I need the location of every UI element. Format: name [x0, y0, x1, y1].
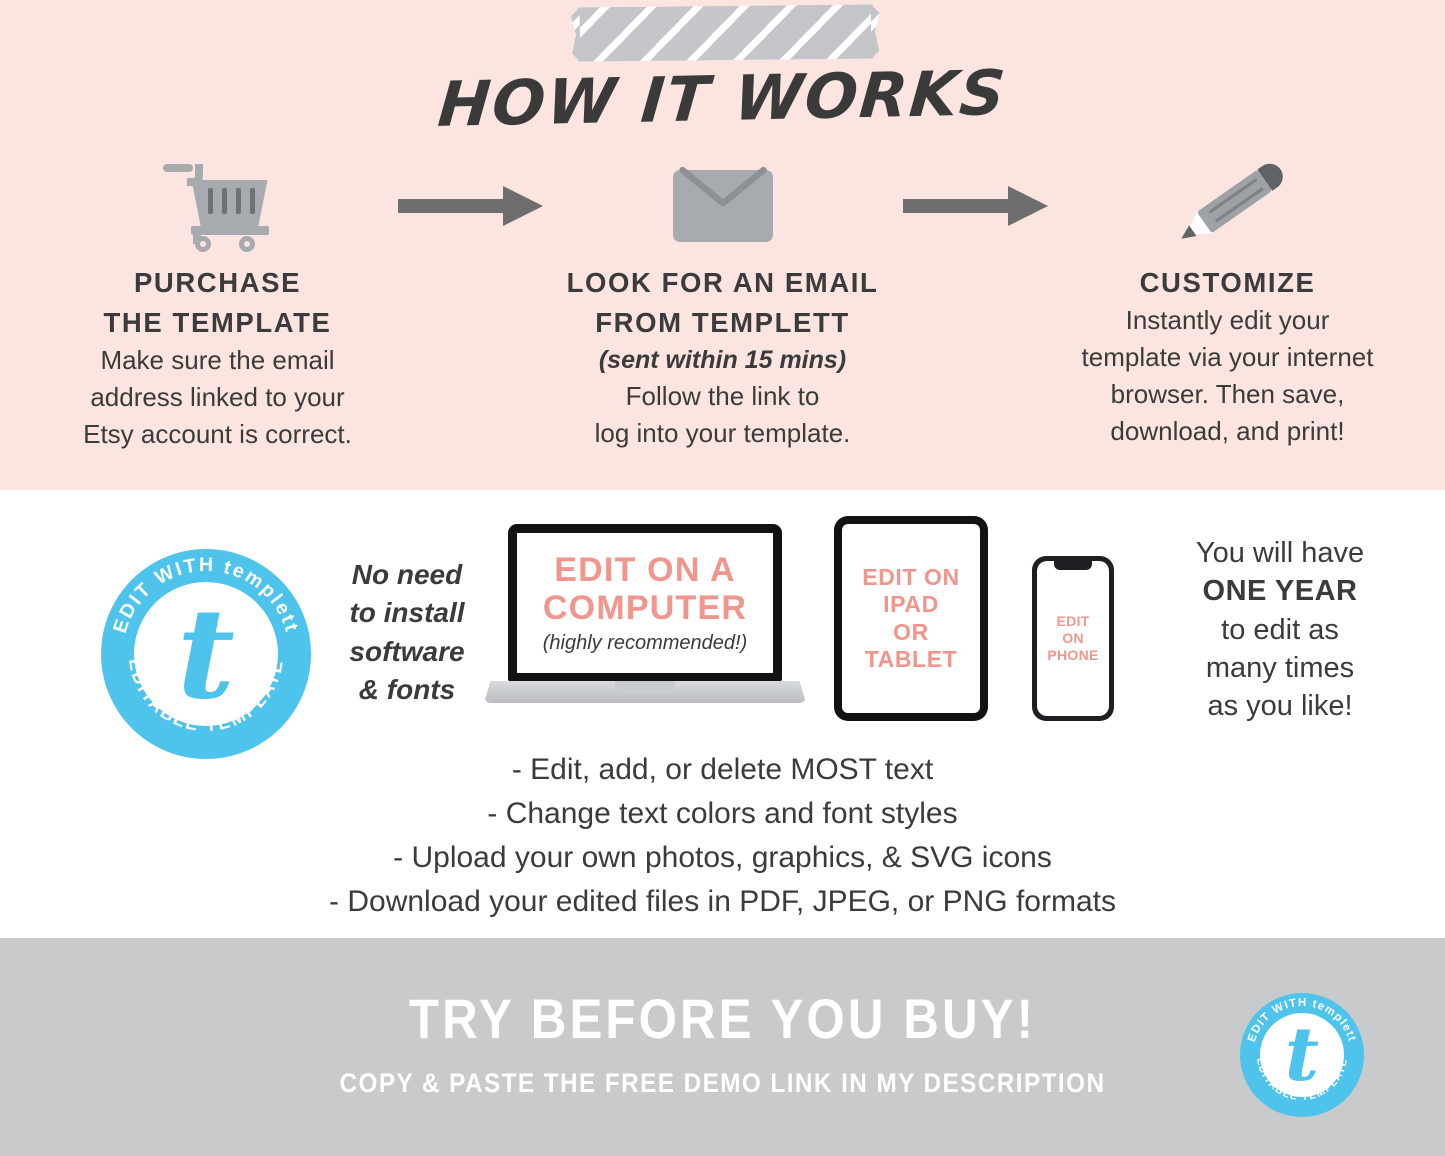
step-icon-wrap — [1048, 150, 1408, 262]
laptop-lid: EDIT ON A COMPUTER (highly recommended!) — [508, 524, 782, 682]
step-icon-wrap — [543, 150, 903, 262]
one-year-line1: You will have — [1125, 534, 1435, 572]
tablet-screen: EDIT ON IPAD OR TABLET — [842, 524, 980, 713]
step-icon-wrap — [38, 150, 398, 262]
laptop-screen-sub: (highly recommended!) — [543, 632, 748, 655]
tablet-icon: EDIT ON IPAD OR TABLET — [834, 516, 988, 721]
step-body-line1: Follow the link to — [543, 378, 903, 415]
feature-item: - Download your edited files in PDF, JPE… — [0, 880, 1445, 924]
step-heading-line1: PURCHASE — [38, 264, 398, 302]
steps-row: PURCHASE THE TEMPLATE Make sure the emai… — [0, 150, 1445, 453]
phone-screen: EDIT ON PHONE — [1037, 561, 1109, 716]
how-it-works-section: HOW IT WORKS PURCHASE — [0, 0, 1445, 490]
tablet-screen-line2: IPAD — [862, 591, 959, 618]
phone-screen-line2: ON — [1047, 630, 1098, 647]
arrow-right-icon — [398, 199, 543, 213]
svg-text:EDITABLE TEMPLATE: EDITABLE TEMPLATE — [1254, 1057, 1350, 1103]
shopping-cart-icon — [163, 160, 273, 252]
badge-top-arc-text: EDIT WITH templett — [1246, 997, 1358, 1044]
one-year-note: You will have ONE YEAR to edit as many t… — [1125, 534, 1435, 725]
laptop-screen: EDIT ON A COMPUTER (highly recommended!) — [517, 533, 773, 673]
step-heading-line2: FROM TEMPLETT — [543, 304, 903, 342]
templett-badge-footer: t EDIT WITH templett EDITABLE TEMPLATE — [1240, 993, 1364, 1117]
one-year-line5: as you like! — [1125, 687, 1435, 725]
one-year-line4: many times — [1125, 649, 1435, 687]
one-year-bold: ONE YEAR — [1125, 572, 1435, 610]
step-purchase: PURCHASE THE TEMPLATE Make sure the emai… — [38, 150, 398, 453]
phone-screen-line3: PHONE — [1047, 647, 1098, 664]
svg-text:EDITABLE TEMPLATE: EDITABLE TEMPLATE — [125, 657, 287, 735]
badge-bottom-arc-text: EDITABLE TEMPLATE — [1254, 1057, 1350, 1103]
step-body-line3: Etsy account is correct. — [38, 416, 398, 453]
step-look-for-email: LOOK FOR AN EMAIL FROM TEMPLETT (sent wi… — [543, 150, 903, 452]
tablet-screen-line3: OR — [862, 619, 959, 646]
washi-tape-icon — [578, 4, 874, 61]
svg-text:EDIT WITH templett: EDIT WITH templett — [109, 554, 303, 636]
tablet-screen-line4: TABLET — [862, 646, 959, 673]
feature-item: - Upload your own photos, graphics, & SV… — [0, 836, 1445, 880]
step-italic-note: (sent within 15 mins) — [543, 342, 903, 378]
one-year-line3: to edit as — [1125, 611, 1435, 649]
phone-screen-line1: EDIT — [1047, 613, 1098, 630]
badge-top-arc-text: EDIT WITH templett — [109, 554, 303, 636]
tablet-screen-line1: EDIT ON — [862, 564, 959, 591]
templett-badge: t EDIT WITH templett EDITABLE TEMPLATE — [101, 549, 311, 759]
laptop-trackpad-notch — [615, 681, 675, 690]
step-body-line2: template via your internet — [1048, 339, 1408, 376]
step-body-line4: download, and print! — [1048, 413, 1408, 450]
feature-item: - Edit, add, or delete MOST text — [0, 748, 1445, 792]
no-install-line4: & fonts — [328, 671, 486, 709]
step-body-line1: Make sure the email — [38, 342, 398, 379]
step-heading-line1: LOOK FOR AN EMAIL — [543, 264, 903, 302]
envelope-icon — [673, 170, 773, 242]
badge-bottom-arc-text: EDITABLE TEMPLATE — [125, 657, 287, 735]
arrow-right-icon — [903, 199, 1048, 213]
arrow-2-wrap — [903, 150, 1048, 262]
try-before-you-buy-section: TRY BEFORE YOU BUY! COPY & PASTE THE FRE… — [0, 938, 1445, 1156]
page-title: HOW IT WORKS — [0, 47, 1445, 150]
laptop-icon: EDIT ON A COMPUTER (highly recommended!) — [484, 524, 806, 731]
no-install-line1: No need — [328, 556, 486, 594]
features-list: - Edit, add, or delete MOST text - Chang… — [0, 748, 1445, 924]
step-heading-line2: THE TEMPLATE — [38, 304, 398, 342]
how-it-works-infographic: HOW IT WORKS PURCHASE — [0, 0, 1445, 1156]
footer-title: TRY BEFORE YOU BUY! — [87, 986, 1359, 1051]
step-body-line3: browser. Then save, — [1048, 376, 1408, 413]
no-install-note: No need to install software & fonts — [328, 556, 486, 709]
step-body-line1: Instantly edit your — [1048, 302, 1408, 339]
no-install-line2: to install — [328, 594, 486, 632]
svg-text:EDIT WITH templett: EDIT WITH templett — [1246, 997, 1358, 1044]
step-body-line2: address linked to your — [38, 379, 398, 416]
laptop-screen-line1: EDIT ON A — [554, 551, 735, 589]
no-install-line3: software — [328, 633, 486, 671]
feature-item: - Change text colors and font styles — [0, 792, 1445, 836]
arrow-1-wrap — [398, 150, 543, 262]
laptop-screen-line2: COMPUTER — [543, 589, 747, 627]
step-heading-line1: CUSTOMIZE — [1048, 264, 1408, 302]
footer-subtitle: COPY & PASTE THE FREE DEMO LINK IN MY DE… — [72, 1068, 1373, 1099]
step-body-line2: log into your template. — [543, 415, 903, 452]
phone-icon: EDIT ON PHONE — [1032, 556, 1114, 721]
phone-notch — [1054, 561, 1092, 570]
step-customize: CUSTOMIZE Instantly edit your template v… — [1048, 150, 1408, 451]
pencil-icon — [1165, 160, 1291, 252]
